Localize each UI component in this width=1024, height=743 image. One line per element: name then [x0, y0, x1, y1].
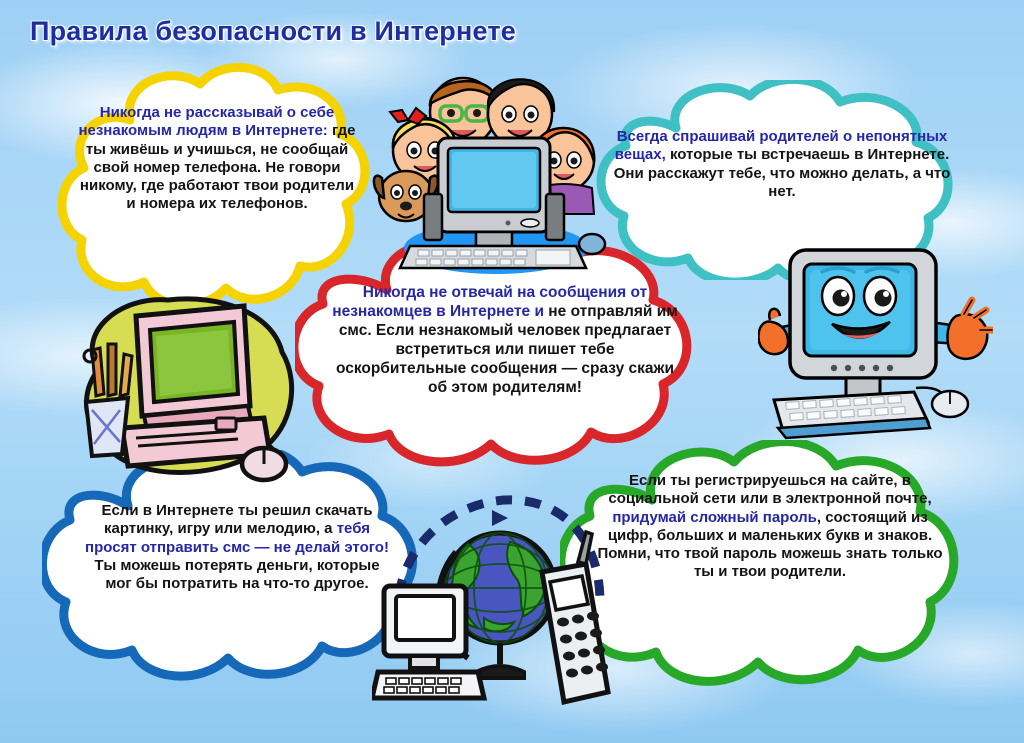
speaker-left — [424, 194, 442, 240]
cloud-password-text: Если ты регистрируешься на сайте, в соци… — [590, 472, 950, 582]
pencil-cup — [84, 344, 132, 456]
pink-computer-desk-illustration — [58, 278, 318, 518]
smiley-computer-graphic — [758, 238, 993, 468]
speaker-right — [546, 194, 564, 240]
cloud-ask-parents-text: Всегда спрашивай родителей о непонятных … — [612, 128, 952, 201]
cloud-password-highlight: придумай сложный пароль — [612, 509, 817, 526]
cloud-no-sms-tail: Ты можешь потерять деньги, которые мог б… — [94, 557, 379, 592]
page-title: Правила безопасности в Интернете — [30, 16, 516, 47]
internet-safety-poster: Правила безопасности в Интернете Никогда… — [0, 0, 1024, 743]
crt-monitor-face — [790, 250, 936, 396]
keyboard — [774, 392, 930, 438]
keyboard — [400, 246, 586, 268]
globe-devices-graphic — [372, 492, 622, 717]
cloud-password: Если ты регистрируешься на сайте, в соци… — [560, 440, 980, 705]
pink-monitor — [122, 306, 270, 466]
desktop-computer — [372, 586, 484, 698]
cloud-password-lead: Если ты регистрируешься на сайте, в соци… — [608, 472, 931, 507]
smiling-computer-mascot-illustration — [758, 238, 993, 468]
cloud-personal-info-highlight: Никогда не рассказывай о себе незнакомым… — [78, 104, 334, 139]
crt-monitor — [438, 138, 550, 246]
pink-computer-graphic — [58, 278, 318, 518]
waving-arm — [930, 300, 992, 359]
mouse — [579, 234, 605, 254]
kids-at-computer-illustration — [368, 68, 618, 278]
kids-computer-graphic — [368, 68, 618, 278]
cloud-no-reply-text: Никогда не отвечай на сообщения от незна… — [329, 284, 681, 397]
globe-and-devices-illustration — [372, 492, 622, 717]
cloud-personal-info-text: Никогда не рассказывай о себе незнакомым… — [78, 104, 356, 214]
mobile-phone — [542, 532, 608, 702]
